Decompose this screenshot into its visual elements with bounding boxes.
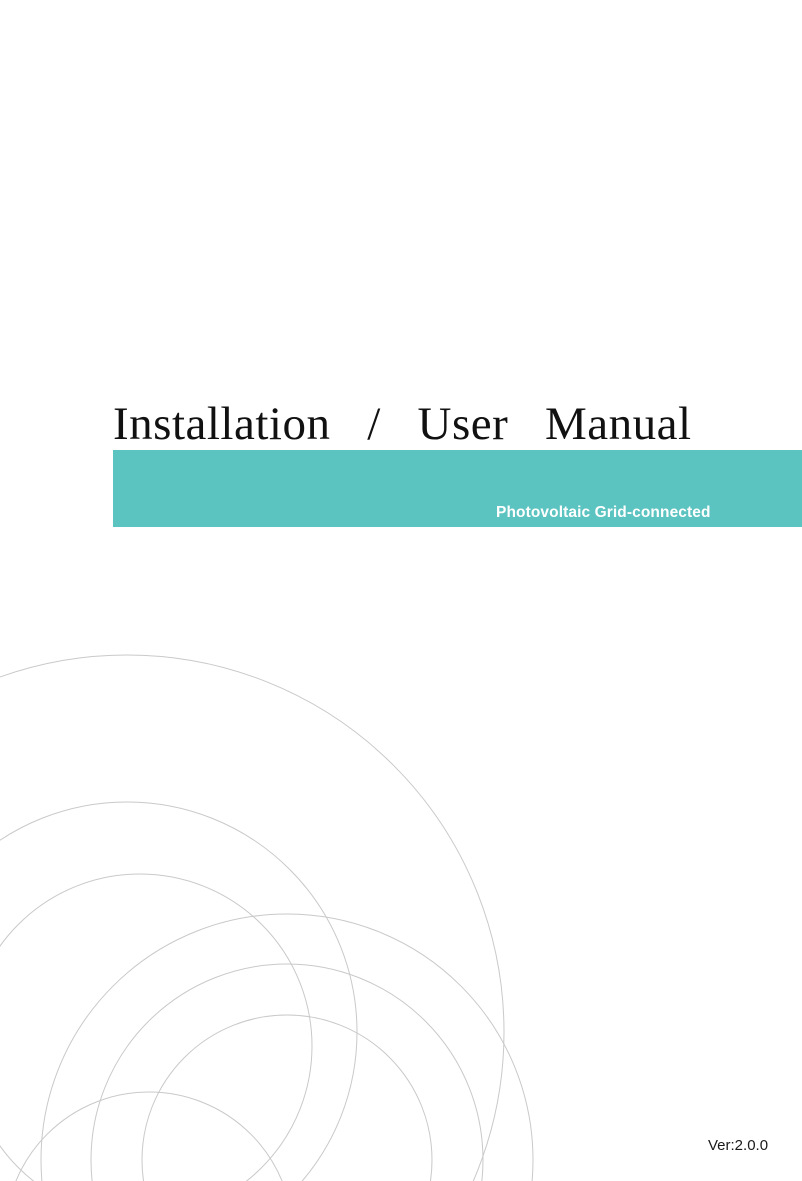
decor-arc-3 — [0, 874, 312, 1181]
subtitle-line-2: Microinverter(Built-in WIFI-G4) — [496, 560, 724, 579]
subtitle-line-1: Photovoltaic Grid-connected — [496, 503, 724, 522]
page-title: Installation / User Manual — [113, 398, 692, 450]
cover-page: Installation / User Manual Photovoltaic … — [0, 0, 802, 1181]
decor-arc-1 — [0, 655, 504, 1181]
decor-arc-7 — [142, 1015, 432, 1181]
decor-arc-6 — [91, 964, 483, 1181]
decor-arc-5 — [41, 914, 533, 1181]
decor-arc-2 — [0, 802, 357, 1181]
subtitle-text-block: Photovoltaic Grid-connected Microinverte… — [496, 465, 724, 617]
version-label: Ver:2.0.0 — [708, 1137, 768, 1154]
subtitle-banner: Photovoltaic Grid-connected Microinverte… — [113, 450, 802, 527]
decor-arc-4 — [5, 1092, 293, 1181]
